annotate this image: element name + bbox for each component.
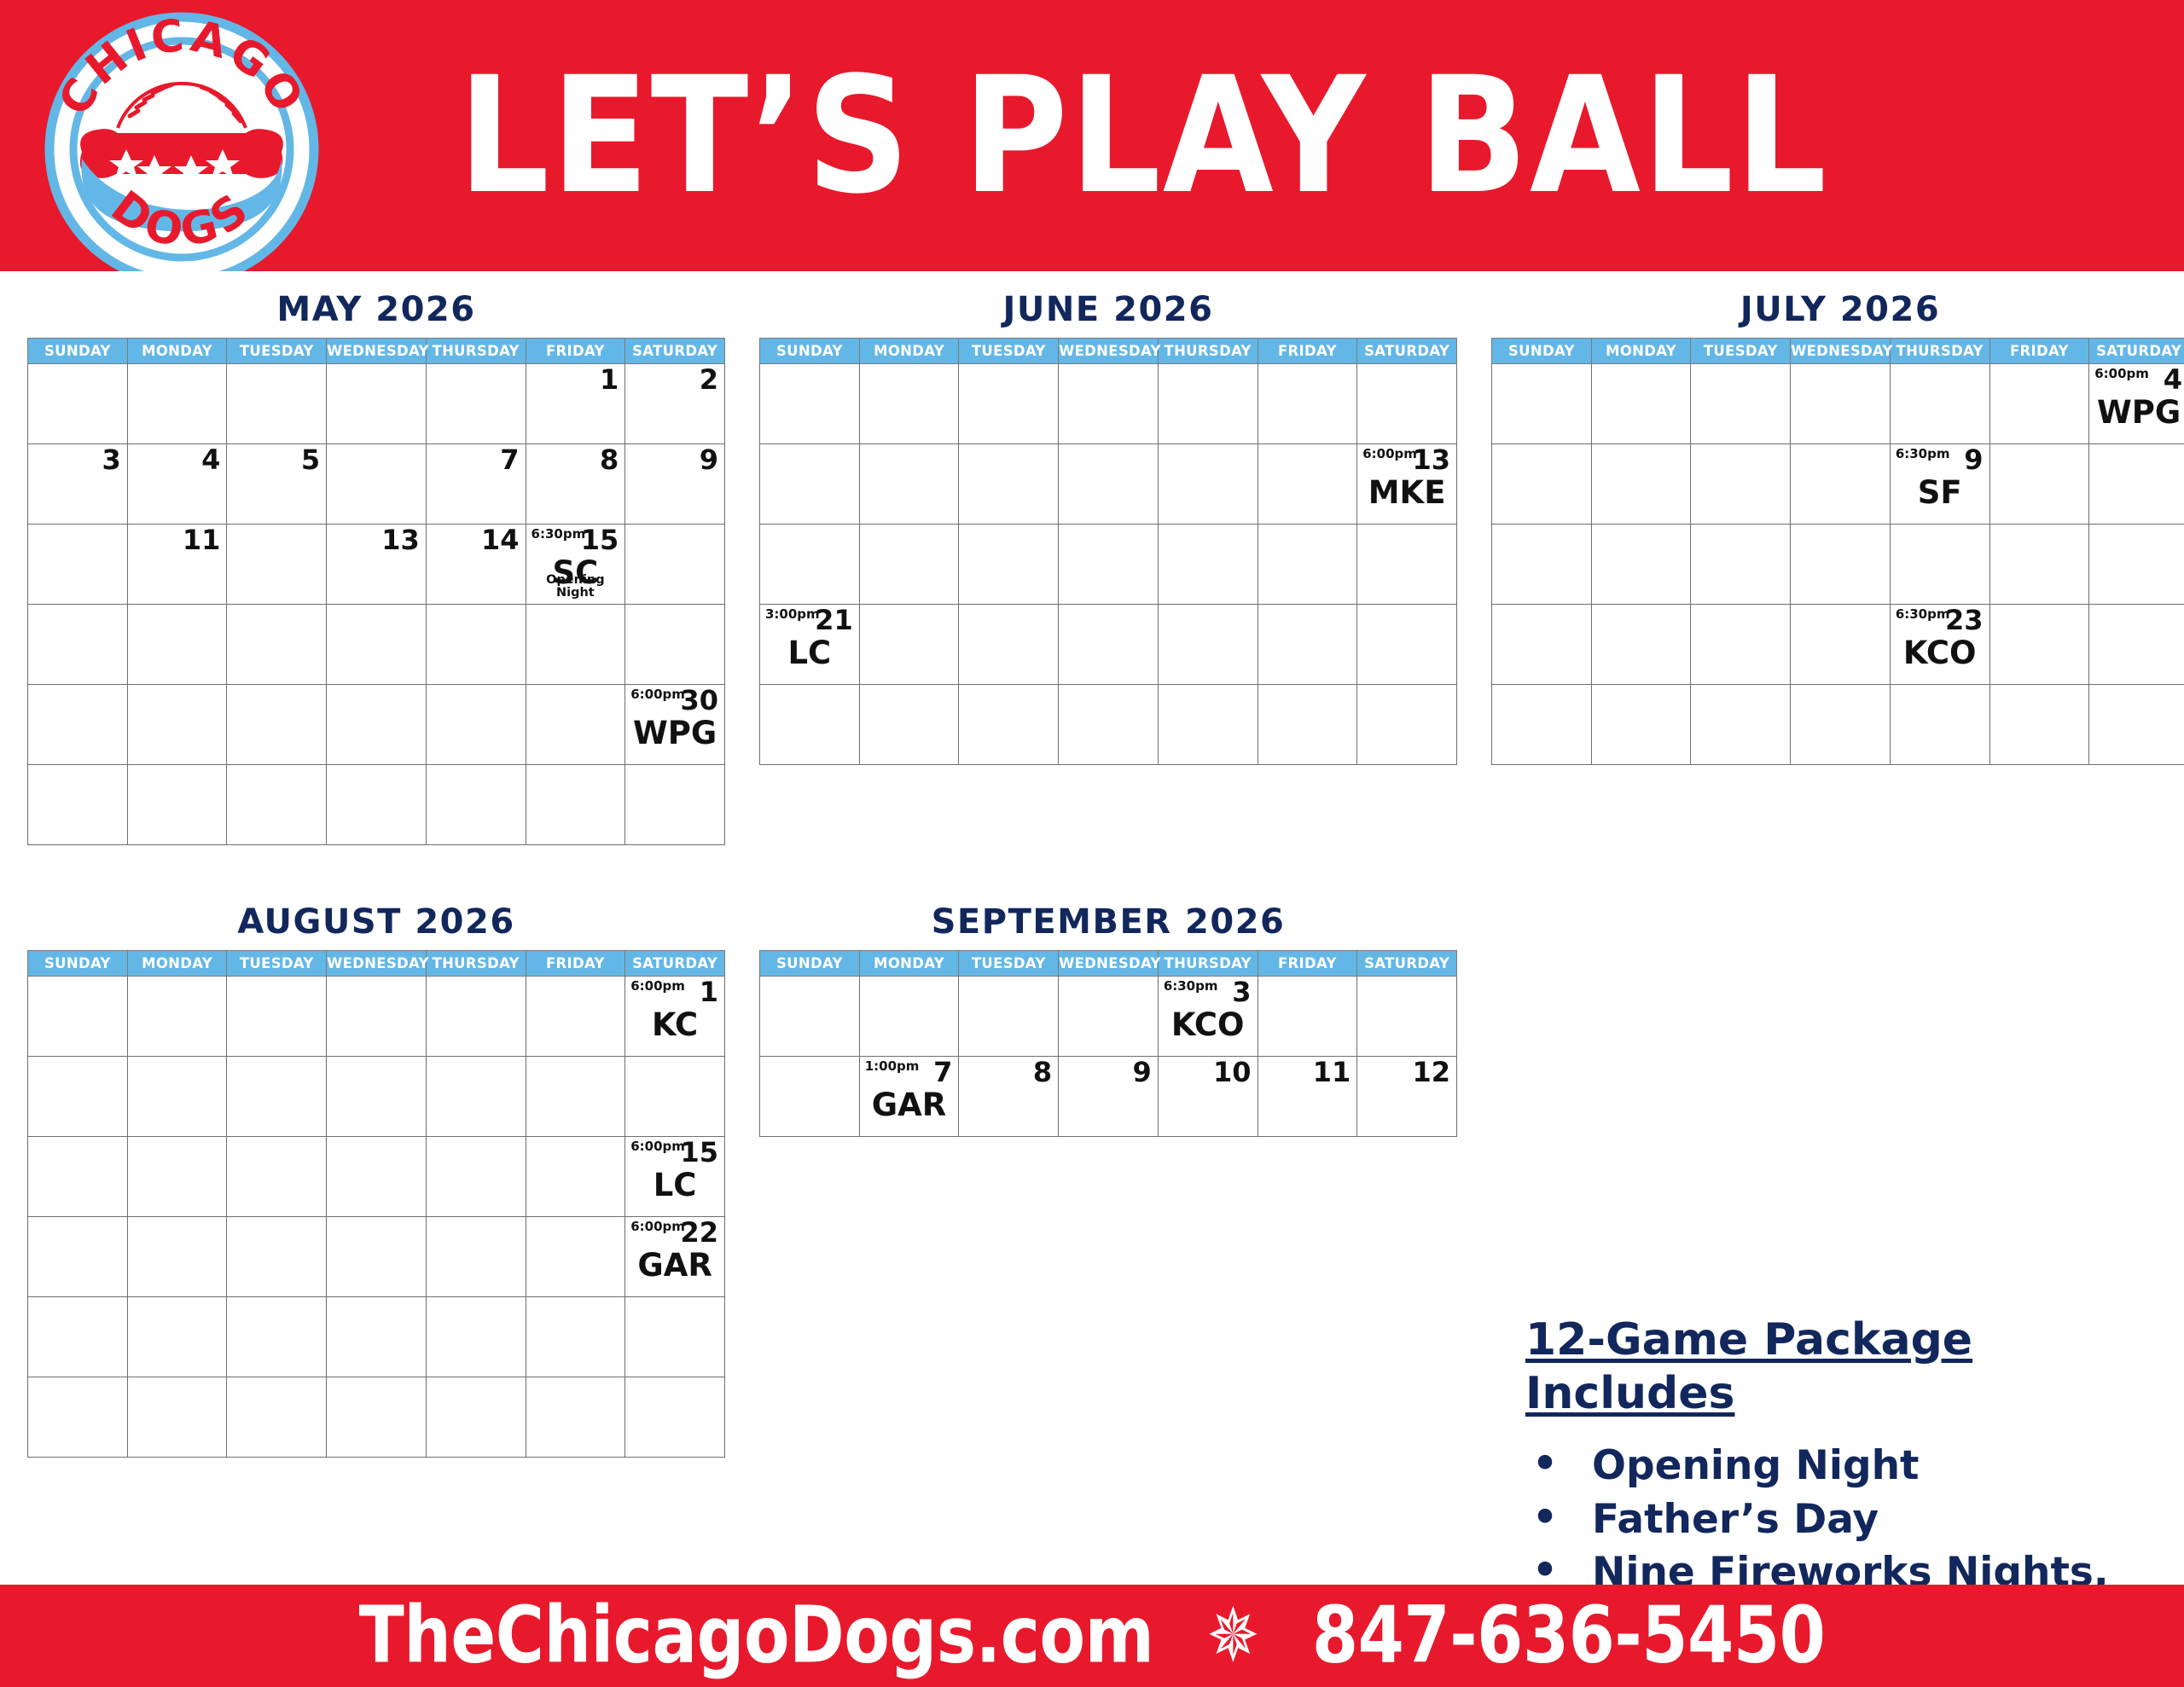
game-cell[interactable]: 6:00pm5GAR xyxy=(1357,977,1457,1057)
day-number: 9 xyxy=(102,1139,120,1166)
day-number: 2 xyxy=(700,366,718,393)
day-number: 29 xyxy=(680,1299,718,1326)
opponent-code: KC xyxy=(625,1009,724,1041)
opponent-code: FM xyxy=(1990,557,2089,588)
game-cell[interactable]: 20GAR xyxy=(426,1217,526,1297)
day-cell xyxy=(127,765,227,845)
game-cell[interactable]: 15GAR xyxy=(859,525,959,605)
game-cell[interactable]: 6:30pm23CLE xyxy=(959,605,1059,685)
game-cell[interactable]: 30CLE xyxy=(28,1377,128,1458)
game-cell[interactable]: 11:30am8SF xyxy=(1791,444,1891,525)
opponent-code: LC xyxy=(1492,717,1591,749)
opponent-code: LC xyxy=(28,1249,127,1281)
game-cell[interactable]: 26LC xyxy=(1492,685,1592,765)
game-time: 6:30pm xyxy=(531,1220,586,1233)
opponent-code: MKE xyxy=(959,717,1058,749)
day-number: 24 xyxy=(2045,606,2083,634)
day-cell xyxy=(1158,685,1258,765)
game-time: 6:30pm xyxy=(1064,448,1118,461)
day-cell: 8 xyxy=(526,444,625,525)
weekday-header-sunday: SUNDAY xyxy=(28,339,128,364)
game-cell[interactable]: 3:00pm21LC xyxy=(760,605,860,685)
game-cell[interactable]: 10:30am27CLE xyxy=(327,685,427,765)
day-cell xyxy=(625,1377,725,1458)
day-cell xyxy=(28,977,128,1057)
opponent-code: GAR xyxy=(1258,1009,1357,1041)
day-number: 5 xyxy=(301,446,320,473)
game-cell[interactable]: 6LC xyxy=(1357,364,1457,444)
opponent-code: KCO xyxy=(1691,717,1790,749)
game-cell[interactable]: 1:00pm7GAR xyxy=(859,1057,959,1137)
day-number: 10 xyxy=(1213,1058,1252,1086)
opponent-code: CLE xyxy=(427,717,526,749)
schedule-canvas: MAY 2026 SUNDAYMONDAYTUESDAYWEDNESDAYTHU… xyxy=(0,271,2184,1585)
chicago-star-icon: ✵ xyxy=(1206,1592,1259,1678)
game-cell[interactable]: 18GAR xyxy=(227,1217,327,1297)
weekday-header-monday: MONDAY xyxy=(127,339,227,364)
weekday-header-tuesday: TUESDAY xyxy=(227,951,327,977)
calendar-week-row: 9SC1011MKE12MKE13MKE6:30pm14LC6:00pm15LC xyxy=(28,1137,725,1217)
day-number: 2 xyxy=(102,1058,120,1086)
day-cell: 10 xyxy=(127,1137,227,1217)
day-number: 25 xyxy=(2144,606,2182,634)
calendar-week-row: 26LC27KCO28KCO29KCO30KCO6:30pm31KC xyxy=(1492,685,2184,765)
game-cell[interactable]: 6:00pm15LC xyxy=(625,1137,725,1217)
game-cell[interactable]: 6:30pm29WPG xyxy=(526,685,625,765)
weekday-header-monday: MONDAY xyxy=(859,339,959,364)
game-cell[interactable]: 21KC xyxy=(426,605,526,685)
game-cell[interactable]: 6:00pm22GAR xyxy=(625,1217,725,1297)
day-number: 27 xyxy=(381,687,420,714)
day-number: 6 xyxy=(401,446,420,473)
day-number: 14 xyxy=(1746,526,1785,554)
calendar-title-september: SEPTEMBER 2026 xyxy=(759,902,1457,942)
game-cell[interactable]: 7LC xyxy=(760,444,860,525)
weekday-header-saturday: SATURDAY xyxy=(2089,339,2184,364)
game-cell[interactable]: 6WPG xyxy=(426,1057,526,1137)
package-heading: 12-Game Package Includes xyxy=(1525,1313,2174,1422)
calendar-week-row: 6:30pm1MKE6:30pm2MKE6:30pm3WPG6:00pm4WPG xyxy=(1492,364,2184,444)
page-title: LET’S PLAY BALL xyxy=(0,42,2184,229)
game-cell[interactable]: 3:00pm6GAR xyxy=(760,1057,860,1137)
calendar-week-row: 34510:30am6TBAPreseasonEducation Game789 xyxy=(28,444,725,525)
game-cell[interactable]: 6:30pm30MKE xyxy=(959,685,1059,765)
game-cell[interactable]: 3:00pm16LC xyxy=(28,1217,128,1297)
game-cell[interactable]: 16GAR xyxy=(959,525,1059,605)
game-cell[interactable]: 28CLE xyxy=(526,1297,625,1377)
calendar-table-august: SUNDAYMONDAYTUESDAYWEDNESDAYTHURSDAYFRID… xyxy=(27,950,725,1458)
game-cell[interactable]: 6:30pm3KCO xyxy=(1158,977,1258,1057)
game-time: 6:30pm xyxy=(964,980,1019,993)
opponent-code: GAR xyxy=(860,557,959,588)
day-number: 17 xyxy=(83,606,121,634)
game-cell[interactable]: 12KCO xyxy=(1492,525,1592,605)
opponent-code: LC xyxy=(1357,397,1456,428)
game-cell[interactable]: 30KCO xyxy=(1890,685,1989,765)
footer-website[interactable]: TheChicagoDogs.com xyxy=(359,1591,1154,1681)
game-time: 3:00pm xyxy=(765,528,820,541)
day-number: 21 xyxy=(815,606,853,634)
package-item-label: Father’s Day xyxy=(1592,1496,1879,1543)
game-cell[interactable]: 11:30am21KCO xyxy=(1691,605,1791,685)
day-number: 7 xyxy=(1765,446,1784,473)
game-cell[interactable]: 17GAR xyxy=(1059,525,1159,605)
game-time: 6:30pm xyxy=(1796,608,1850,621)
game-cell[interactable]: 27CLE xyxy=(426,1297,526,1377)
game-cell[interactable]: 6:30pm2KCO xyxy=(1059,977,1159,1057)
game-cell[interactable]: 6:30pm9LIN xyxy=(959,444,1059,525)
game-cell[interactable]: 5WPG xyxy=(327,1057,427,1137)
game-cell[interactable]: 6:30pm1KCO xyxy=(959,977,1059,1057)
day-cell xyxy=(426,765,526,845)
calendar-week-row: 3:00pm21LC226:30pm23CLE11:30am24CLE6:30p… xyxy=(760,605,1457,685)
day-number: 25 xyxy=(282,1299,321,1326)
game-cell[interactable]: 6:00pm30WPG xyxy=(625,685,725,765)
game-cell[interactable]: 3:00pm10WPGMother’s DayPreseason Game xyxy=(28,525,128,605)
opponent-code: GAR xyxy=(625,1249,724,1281)
game-cell[interactable]: 6:30pm12MKE xyxy=(1258,444,1357,525)
calendar-july: JULY 2026 SUNDAYMONDAYTUESDAYWEDNESDAYTH… xyxy=(1491,290,2184,765)
day-number: 19 xyxy=(1313,526,1351,554)
day-cell: 9 xyxy=(625,444,725,525)
game-cell[interactable]: 12MKE xyxy=(327,1137,427,1217)
game-cell[interactable]: 6:00pm1KC xyxy=(625,977,725,1057)
game-cell[interactable]: 6:30pm25CLE xyxy=(1158,605,1258,685)
day-number: 7 xyxy=(600,1058,619,1086)
day-cell xyxy=(760,977,860,1057)
game-cell[interactable]: 9SC xyxy=(28,1137,128,1217)
game-cell[interactable]: 26LIN xyxy=(1258,605,1357,685)
page-header: CHICAGO DOGS LET’S PLAY BALL xyxy=(0,0,2184,271)
opponent-code: SC xyxy=(526,1089,625,1121)
package-item: •Father’s Day xyxy=(1525,1498,2174,1543)
game-cell[interactable]: 6:30pm4GAR xyxy=(1258,977,1357,1057)
day-cell: 14 xyxy=(426,525,526,605)
game-cell[interactable]: 6:00pm13MKE xyxy=(1357,444,1457,525)
game-cell[interactable]: 11:30am24CLE xyxy=(1059,605,1159,685)
opponent-code: SC xyxy=(625,557,724,588)
day-number: 23 xyxy=(1014,606,1053,634)
footer-phone[interactable]: 847-636-5450 xyxy=(1312,1591,1825,1681)
day-cell: 11 xyxy=(1258,1057,1357,1137)
day-cell xyxy=(625,765,725,845)
day-cell: 4 xyxy=(127,444,227,525)
game-cell[interactable]: 25CLE xyxy=(227,1297,327,1377)
day-number: 13 xyxy=(1647,526,1685,554)
opponent-code: CLE xyxy=(1059,637,1158,669)
opponent-code: CLE xyxy=(227,717,326,749)
game-cell[interactable]: 20KC xyxy=(327,605,427,685)
day-number: 8 xyxy=(1033,1058,1052,1086)
game-cell[interactable]: 6:30pm15SCOpening Night xyxy=(526,525,625,605)
game-cell[interactable]: 3:00pm2KC xyxy=(28,1057,128,1137)
day-number: 8 xyxy=(600,446,619,473)
opponent-code: WPG xyxy=(427,1089,526,1121)
day-number: 11 xyxy=(1313,1058,1351,1086)
opponent-code: LC xyxy=(1990,637,2089,669)
opponent-code: LC xyxy=(1357,557,1456,588)
game-time: 6:30pm xyxy=(964,448,1019,461)
game-cell[interactable]: 18FM xyxy=(2089,525,2184,605)
opponent-code: MKE xyxy=(1791,397,1890,428)
game-cell[interactable]: 6:30pm3WPG xyxy=(1989,364,2089,444)
opponent-code: SF xyxy=(625,637,724,669)
game-time: 6:30pm xyxy=(1696,448,1751,461)
day-cell xyxy=(327,1377,427,1458)
opponent-code: CLE xyxy=(427,1330,526,1361)
opponent-code: FM xyxy=(2089,557,2184,588)
game-cell[interactable]: 23SF xyxy=(625,605,725,685)
day-number: 12 xyxy=(1547,526,1585,554)
day-number: 16 xyxy=(83,1219,121,1246)
day-cell: 3 xyxy=(127,1057,227,1137)
game-time: 6:30pm xyxy=(1164,608,1218,621)
day-number: 20 xyxy=(481,1219,520,1246)
day-number: 30 xyxy=(680,687,718,714)
opponent-code: LC xyxy=(2089,637,2184,669)
opponent-code: WPG xyxy=(2089,397,2184,428)
day-number: 31 xyxy=(183,1379,221,1406)
game-cell[interactable]: 3:00pm17SC xyxy=(28,605,128,685)
game-cell[interactable]: 24LC xyxy=(1989,605,2089,685)
opponent-code: SC xyxy=(625,1089,724,1121)
opponent-code: GAR xyxy=(1059,557,1158,588)
game-cell[interactable]: 3MKE xyxy=(1059,364,1159,444)
game-cell[interactable]: 3:00pm31WPG xyxy=(28,765,128,845)
game-cell[interactable]: 19FM xyxy=(1492,605,1592,685)
game-cell[interactable]: 8SC xyxy=(625,1057,725,1137)
day-cell: 2 xyxy=(625,364,725,444)
opponent-code: MKE xyxy=(1159,397,1258,428)
weekday-header-monday: MONDAY xyxy=(1591,339,1691,364)
game-cell[interactable]: 11MKE xyxy=(227,1137,327,1217)
game-cell[interactable]: 6:30pm1MKE xyxy=(1791,364,1891,444)
game-cell[interactable]: 18GAR xyxy=(1158,525,1258,605)
game-cell[interactable]: 6:30pm28CLE xyxy=(426,685,526,765)
day-number: 30 xyxy=(1014,687,1053,714)
day-number: 14 xyxy=(581,1139,619,1166)
day-number: 29 xyxy=(1845,687,1884,714)
day-number: 19 xyxy=(1547,606,1585,634)
opponent-code: KCO xyxy=(1592,637,1691,669)
day-number: 13 xyxy=(481,1139,520,1166)
opponent-code: KCO xyxy=(959,1009,1058,1041)
day-cell xyxy=(526,1377,625,1458)
weekday-header-thursday: THURSDAY xyxy=(426,951,526,977)
package-heading-line2: Includes xyxy=(1525,1368,1734,1419)
game-time: 6:30pm xyxy=(1995,368,2050,380)
game-cell[interactable]: 17FM xyxy=(1989,525,2089,605)
calendar-week-row: 3:00pm14MKE15GAR16GAR17GAR18GAR6:30pm19L… xyxy=(760,525,1457,605)
day-number: 17 xyxy=(183,1219,221,1246)
weekday-header-friday: FRIDAY xyxy=(1258,339,1357,364)
calendar-september: SEPTEMBER 2026 SUNDAYMONDAYTUESDAYWEDNES… xyxy=(759,902,1457,1137)
calendar-august: AUGUST 2026 SUNDAYMONDAYTUESDAYWEDNESDAY… xyxy=(27,902,725,1458)
day-cell: 10 xyxy=(1158,1057,1258,1137)
opponent-code: FM xyxy=(1492,637,1591,669)
day-cell xyxy=(227,1377,327,1458)
opponent-code: LIN xyxy=(760,717,859,749)
game-time: 6:00pm xyxy=(630,1140,685,1153)
game-cell[interactable]: 6:30pm20KCO xyxy=(1591,605,1691,685)
day-number: 5 xyxy=(1432,978,1450,1006)
day-number: 4 xyxy=(1332,978,1350,1006)
day-number: 8 xyxy=(933,446,952,473)
game-cell[interactable]: 4WPG xyxy=(227,1057,327,1137)
game-cell[interactable]: 6:30pm7SF xyxy=(1691,444,1791,525)
game-cell[interactable]: 22SF xyxy=(526,605,625,685)
game-cell[interactable]: 28LIN xyxy=(760,685,860,765)
game-cell[interactable]: 3:00pm5WPG xyxy=(1492,444,1592,525)
game-cell[interactable]: 7SC xyxy=(526,1057,625,1137)
game-time: 6:30pm xyxy=(1995,688,2050,701)
weekday-header-tuesday: TUESDAY xyxy=(1691,339,1791,364)
game-cell[interactable]: 6:30pm26CLE xyxy=(227,685,327,765)
day-cell xyxy=(1492,364,1592,444)
opponent-code: KCO xyxy=(1791,637,1890,669)
game-time: 3:00pm xyxy=(765,608,820,621)
game-cell[interactable]: 6:30pm14LC xyxy=(526,1137,625,1217)
day-number: 22 xyxy=(915,606,953,634)
calendar-title-may: MAY 2026 xyxy=(27,290,725,329)
game-cell[interactable]: 27LIN xyxy=(1357,605,1457,685)
game-cell[interactable]: 3:00pm14MKE xyxy=(760,525,860,605)
opponent-code: WPG xyxy=(625,717,724,749)
weekday-header-sunday: SUNDAY xyxy=(28,951,128,977)
game-cell[interactable]: 6:30pm21GAR xyxy=(526,1217,625,1297)
day-number: 18 xyxy=(1213,526,1252,554)
calendar-week-row: 3:00pm10WPGMother’s DayPreseason Game111… xyxy=(28,525,725,605)
opponent-code: MKE xyxy=(1258,477,1357,508)
game-cell[interactable]: 2MKE xyxy=(959,364,1059,444)
day-number: 23 xyxy=(83,1299,121,1326)
opponent-code: KC xyxy=(227,637,326,669)
opponent-code: KCO xyxy=(1891,637,1989,669)
opponent-code: KCO xyxy=(1592,717,1691,749)
game-cell[interactable]: 6:00pm20LC xyxy=(1357,525,1457,605)
game-cell[interactable]: 19GAR xyxy=(327,1217,427,1297)
game-cell[interactable]: 5LC xyxy=(1258,364,1357,444)
day-number: 13 xyxy=(381,526,420,554)
day-cell xyxy=(1059,685,1159,765)
game-cell[interactable]: 6:30pm22KCO xyxy=(1791,605,1891,685)
game-cell[interactable]: 10:30am12MKEPreseasonEducation Game xyxy=(227,525,327,605)
game-cell[interactable]: 6:30pm10LIN xyxy=(1059,444,1159,525)
calendar-may: MAY 2026 SUNDAYMONDAYTUESDAYWEDNESDAYTHU… xyxy=(27,290,725,845)
weekday-header-saturday: SATURDAY xyxy=(1357,339,1457,364)
day-cell: 15ASG xyxy=(1791,525,1891,605)
game-cell[interactable]: 6:30pm23KCO xyxy=(1890,605,1989,685)
day-number: 20 xyxy=(381,606,420,634)
day-number: 11 xyxy=(282,1139,321,1166)
game-cell[interactable]: 6:30pm19LC xyxy=(1258,525,1357,605)
game-time: 6:00pm xyxy=(1362,448,1417,461)
opponent-code: CLE xyxy=(327,717,426,749)
day-number: 21 xyxy=(1746,606,1785,634)
game-cell[interactable]: 6:30pm9SF xyxy=(1890,444,1989,525)
opponent-code: LIN xyxy=(1159,477,1258,508)
game-cell[interactable]: 11KCO xyxy=(2089,444,2184,525)
game-cell[interactable]: 19KC xyxy=(227,605,327,685)
game-cell[interactable]: 29KCO xyxy=(1791,685,1891,765)
game-time: 3:00pm xyxy=(33,1060,88,1073)
game-time: 3:00pm xyxy=(33,528,88,541)
day-number: 17 xyxy=(1113,526,1152,554)
game-cell[interactable]: 29CLE xyxy=(625,1297,725,1377)
game-cell[interactable]: 24SF xyxy=(28,685,128,765)
game-cell[interactable]: 6:30pm2MKE xyxy=(1890,364,1989,444)
game-cell[interactable]: 10:30am6TBAPreseasonEducation Game xyxy=(327,444,427,525)
day-number: 11 xyxy=(1213,446,1252,473)
day-number: 15 xyxy=(915,526,953,554)
day-number: 6 xyxy=(1432,366,1450,393)
day-number: 3 xyxy=(2064,366,2082,393)
calendar-title-august: AUGUST 2026 xyxy=(27,902,725,942)
day-cell xyxy=(526,977,625,1057)
game-cell[interactable]: 27KCO xyxy=(1591,685,1691,765)
opponent-code: SF xyxy=(526,637,625,669)
day-number: 21 xyxy=(481,606,520,634)
weekday-header-thursday: THURSDAY xyxy=(1158,951,1258,977)
game-cell[interactable]: 26CLE xyxy=(327,1297,427,1377)
opponent-code: SC xyxy=(28,1169,127,1201)
day-number: 24 xyxy=(183,1299,221,1326)
day-number: 12 xyxy=(282,526,321,554)
bullet-icon: • xyxy=(1532,1496,1558,1541)
game-cell[interactable]: 6:30pm31KC xyxy=(1989,685,2089,765)
day-number: 14 xyxy=(815,526,853,554)
game-cell[interactable]: 28KCO xyxy=(1691,685,1791,765)
weekday-header-sunday: SUNDAY xyxy=(760,339,860,364)
game-cell[interactable]: 6:00pm4WPG xyxy=(2089,364,2184,444)
game-cell[interactable]: 13MKE xyxy=(426,1137,526,1217)
opponent-code: GAR xyxy=(227,1249,326,1281)
calendar-week-row: 12KCO13ASG14ASG15ASG16ASG17FM18FM xyxy=(1492,525,2184,605)
day-number: 1 xyxy=(1865,366,1884,393)
day-number: 16 xyxy=(1945,526,1984,554)
day-number: 24 xyxy=(1113,606,1152,634)
game-cell[interactable]: 3:00pm23GAR xyxy=(28,1297,128,1377)
day-number: 18 xyxy=(2144,526,2182,554)
game-cell[interactable]: 6:00pm16SC xyxy=(625,525,725,605)
day-cell: 24 xyxy=(127,1297,227,1377)
day-number: 4 xyxy=(201,446,220,473)
game-cell[interactable]: 10KCO xyxy=(1989,444,2089,525)
day-number: 2 xyxy=(1033,366,1052,393)
opponent-code: GAR xyxy=(959,557,1058,588)
game-time: 6:30pm xyxy=(232,688,287,701)
game-cell[interactable]: 4MKE xyxy=(1158,364,1258,444)
day-number: 10 xyxy=(183,1139,221,1166)
opponent-code: ASG xyxy=(1592,557,1691,588)
calendar-week-row: 3:00pm23GAR2425CLE26CLE27CLE28CLE29CLE xyxy=(28,1297,725,1377)
calendar-week-row: 24SF256:30pm26CLE10:30am27CLE6:30pm28CLE… xyxy=(28,685,725,765)
opponent-code: LC xyxy=(625,1169,724,1201)
opponent-code: GAR xyxy=(427,1249,526,1281)
game-cell[interactable]: 25LC xyxy=(2089,605,2184,685)
weekday-header-wednesday: WEDNESDAY xyxy=(327,951,427,977)
opponent-code: SF xyxy=(1691,477,1790,508)
game-cell[interactable]: 6:30pm11LIN xyxy=(1158,444,1258,525)
opponent-code: GAR xyxy=(526,1249,625,1281)
day-number: 27 xyxy=(1647,687,1685,714)
game-time: 3:00pm xyxy=(33,1220,88,1233)
game-time: 6:30pm xyxy=(1064,980,1118,993)
calendar-week-row: 3:00pm5WPG66:30pm7SF11:30am8SF6:30pm9SF1… xyxy=(1492,444,2184,525)
game-time: 6:00pm xyxy=(630,980,685,993)
weekday-header-wednesday: WEDNESDAY xyxy=(1059,951,1159,977)
opponent-code: KCO xyxy=(1990,477,2089,508)
